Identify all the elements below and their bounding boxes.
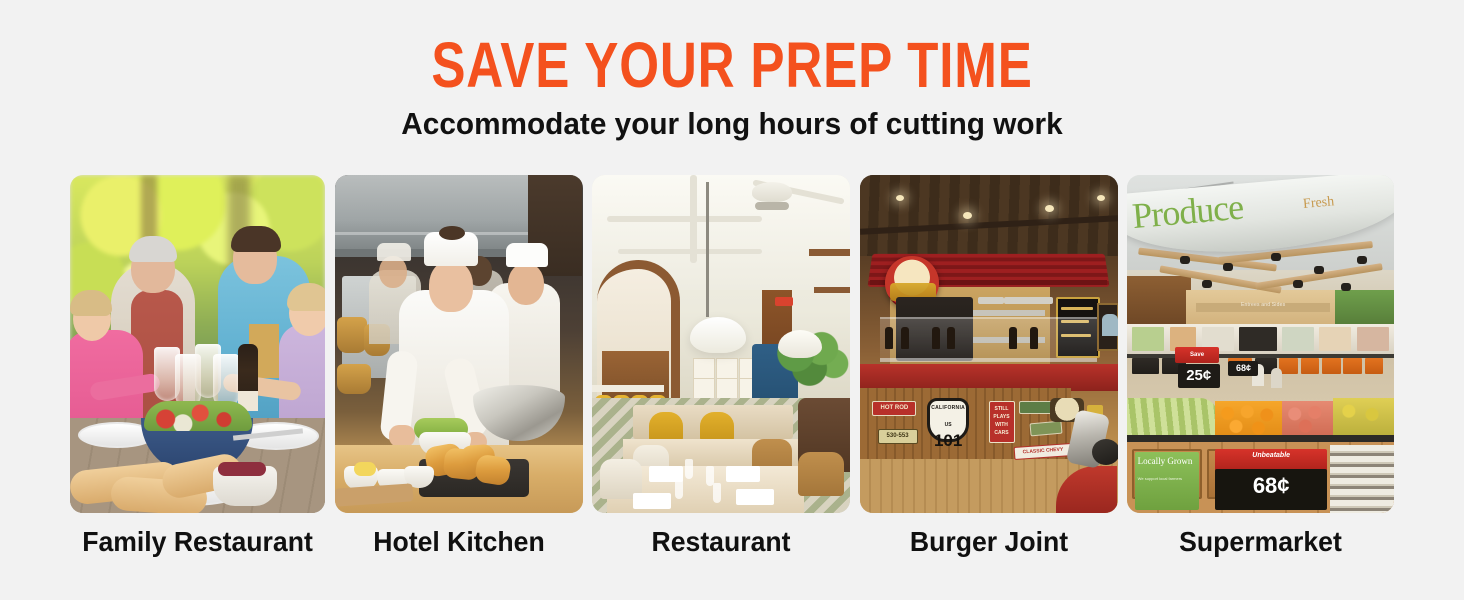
label-family-restaurant: Family Restaurant bbox=[76, 522, 318, 562]
card-burger-joint[interactable]: HOT ROD 530-553 CALIFORNIA US 101 STILL … bbox=[860, 175, 1118, 513]
sign-locally-grown-text: Locally Grown bbox=[1138, 456, 1197, 467]
sign-save: Save bbox=[1175, 347, 1219, 363]
page-subtitle: Accommodate your long hours of cutting w… bbox=[29, 105, 1434, 143]
price-sign-left: 25¢ bbox=[1178, 364, 1220, 388]
image-burger-joint: HOT ROD 530-553 CALIFORNIA US 101 STILL … bbox=[860, 175, 1118, 513]
label-restaurant: Restaurant bbox=[598, 522, 843, 562]
label-supermarket: Supermarket bbox=[1134, 522, 1388, 562]
sign-unbeatable: Unbeatable bbox=[1215, 449, 1327, 462]
page-title: SAVE YOUR PREP TIME bbox=[146, 34, 1317, 96]
use-case-card-row: HOT ROD 530-553 CALIFORNIA US 101 STILL … bbox=[70, 175, 1394, 513]
card-supermarket[interactable]: Entrees and Sides Produce Fresh bbox=[1127, 175, 1394, 513]
card-restaurant[interactable] bbox=[592, 175, 850, 513]
label-hotel-kitchen: Hotel Kitchen bbox=[341, 522, 577, 562]
sign-route-number: 101 bbox=[929, 432, 967, 449]
image-family-restaurant bbox=[70, 175, 325, 513]
sign-entrees-and-sides: Entrees and Sides bbox=[1196, 300, 1330, 311]
sign-hot-rod-text: HOT ROD bbox=[872, 401, 916, 416]
image-restaurant bbox=[592, 175, 850, 513]
label-burger-joint: Burger Joint bbox=[866, 522, 1111, 562]
sign-route-state: CALIFORNIA bbox=[929, 405, 967, 411]
card-family-restaurant[interactable] bbox=[70, 175, 325, 513]
sign-still-plays-text: STILL PLAYS WITH CARS bbox=[989, 405, 1015, 437]
sign-route-prefix: US bbox=[929, 422, 967, 428]
price-sign-big: 68¢ bbox=[1215, 472, 1327, 500]
sign-locally-grown-sub: We support local farmers bbox=[1138, 476, 1197, 482]
card-hotel-kitchen[interactable] bbox=[335, 175, 583, 513]
image-hotel-kitchen bbox=[335, 175, 583, 513]
price-sign-mid: 68¢ bbox=[1228, 361, 1258, 376]
sign-license-plate-text: 530-553 bbox=[878, 429, 918, 444]
use-case-label-row: Family Restaurant Hotel Kitchen Restaura… bbox=[70, 522, 1394, 567]
promo-banner: SAVE YOUR PREP TIME Accommodate your lon… bbox=[0, 0, 1464, 600]
image-supermarket: Entrees and Sides Produce Fresh bbox=[1127, 175, 1394, 513]
